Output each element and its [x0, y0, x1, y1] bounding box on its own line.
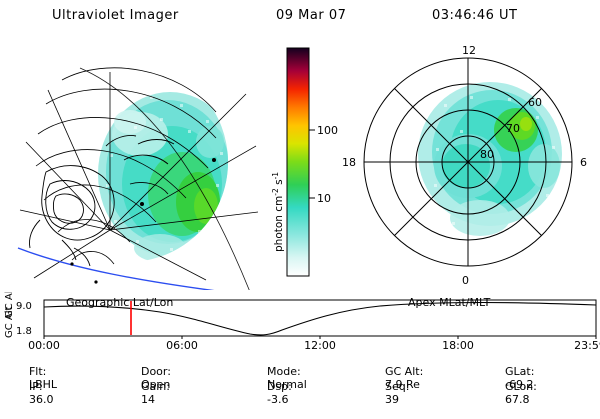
timeline-xtick-1: 06:00: [166, 339, 198, 350]
colorbar-panel: 100 10: [286, 46, 340, 278]
mlt-label-6: 6: [580, 156, 587, 169]
header-date: 09 Mar 07: [276, 8, 346, 23]
header-time: 03:46:46 UT: [432, 8, 517, 23]
apex-graticule: [364, 58, 572, 266]
timeline-xtick-0: 00:00: [28, 339, 60, 350]
colorbar-axis-label-text: photon cm: [273, 196, 285, 252]
geographic-panel: [10, 34, 266, 290]
footer-dsp: Dsp: -3.6: [246, 367, 292, 419]
footer-dsp-label: Dsp:: [267, 380, 292, 393]
mlat-label-80: 80: [480, 148, 494, 161]
timeline-xtick-3: 18:00: [442, 339, 474, 350]
timeline-ytick-18: 1.8: [16, 326, 32, 337]
timeline-xtick-2: 12:00: [304, 339, 336, 350]
footer-gain-label: Gain:: [141, 380, 170, 393]
footer-glon: GLon: 67.8: [484, 367, 537, 419]
mlt-label-0: 0: [462, 274, 469, 287]
screenshot-root: Ultraviolet Imager 09 Mar 07 03:46:46 UT: [0, 0, 600, 400]
timeline-panel: GC Alt GC Alt 9.0 1.8 00:00 06:00 12:00 …: [0, 292, 600, 350]
timeline-xtick-4: 23:59: [574, 339, 600, 350]
colorbar-tick-10: 10: [317, 192, 331, 205]
colorbar-tick-100: 100: [317, 124, 338, 137]
colorbar-axis-label: photon cm-2 s-1: [268, 96, 288, 256]
svg-text:photon cm-2 s-1: photon cm-2 s-1: [271, 172, 286, 252]
header-instrument: Ultraviolet Imager: [52, 8, 179, 23]
geographic-plot: [10, 34, 266, 290]
mlt-label-18: 18: [342, 156, 356, 169]
colorbar-axis-label-sup2: -1: [271, 172, 280, 180]
header: Ultraviolet Imager 09 Mar 07 03:46:46 UT: [0, 8, 600, 28]
apex-panel: 12 18 6 0 60 70 80: [340, 34, 596, 290]
mlat-label-70: 70: [506, 122, 520, 135]
footer-seq-label: Seq:: [385, 380, 409, 393]
apex-plot: 12 18 6 0 60 70 80: [340, 34, 596, 290]
footer-glon-label: GLon:: [505, 380, 537, 393]
timeline-ylabel-bottom: GC Alt: [4, 306, 15, 338]
timeline-ytick-90: 9.0: [16, 301, 32, 312]
footer-ip: IP: 36.0: [8, 367, 53, 419]
colorbar: 100 10: [286, 46, 340, 278]
footer-gain: Gain: 14: [120, 367, 170, 419]
footer-seq: Seq: 39: [364, 367, 409, 419]
aurora-emission-geographic: [98, 92, 242, 262]
mlt-label-12: 12: [462, 44, 476, 57]
footer-ip-label: IP:: [29, 380, 43, 393]
timeline-altitude-curve: [44, 303, 596, 335]
mlat-label-60: 60: [528, 96, 542, 109]
timeline-plot: GC Alt GC Alt 9.0 1.8 00:00 06:00 12:00 …: [0, 292, 600, 350]
